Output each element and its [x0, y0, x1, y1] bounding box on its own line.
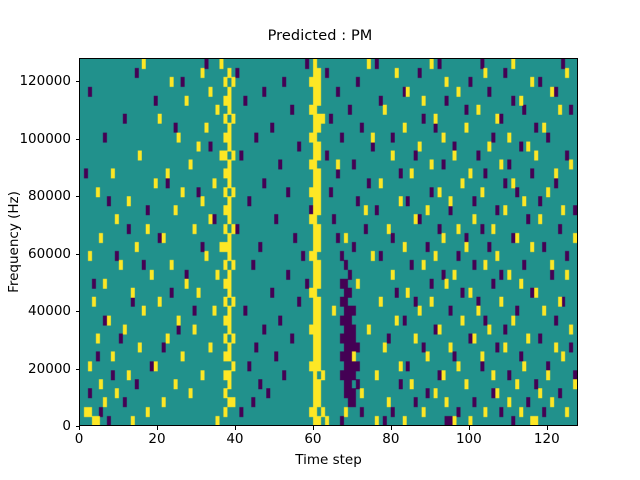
y-tick-mark [76, 426, 80, 427]
y-tick-mark [76, 311, 80, 312]
matplotlib-figure: Predicted : PM 020406080100120 020000400… [0, 0, 640, 480]
x-tick-label: 0 [75, 431, 84, 447]
y-tick-label: 120000 [19, 73, 71, 89]
y-axis-label: Frequency (Hz) [6, 191, 22, 293]
x-tick-mark [235, 426, 236, 430]
x-tick-label: 80 [382, 431, 399, 447]
y-tick-mark [76, 139, 80, 140]
y-tick-label: 20000 [28, 361, 71, 377]
y-tick-label: 60000 [28, 246, 71, 262]
x-tick-label: 40 [226, 431, 243, 447]
y-tick-mark [76, 254, 80, 255]
x-tick-mark [313, 426, 314, 430]
x-tick-mark [157, 426, 158, 430]
x-tick-label: 20 [148, 431, 165, 447]
x-tick-label: 120 [534, 431, 560, 447]
y-tick-label: 40000 [28, 303, 71, 319]
y-tick-mark [76, 369, 80, 370]
x-tick-mark [391, 426, 392, 430]
y-tick-mark [76, 81, 80, 82]
x-tick-mark [547, 426, 548, 430]
y-tick-label: 100000 [19, 131, 71, 147]
x-axis-label: Time step [79, 452, 578, 468]
heatmap-canvas [80, 59, 577, 425]
x-tick-label: 100 [456, 431, 482, 447]
chart-title: Predicted : PM [0, 28, 640, 44]
y-tick-label: 80000 [28, 188, 71, 204]
x-tick-label: 60 [304, 431, 321, 447]
x-tick-mark [79, 426, 80, 430]
y-tick-label: 0 [62, 418, 71, 434]
x-tick-mark [469, 426, 470, 430]
y-tick-mark [76, 196, 80, 197]
heatmap-axes [79, 58, 578, 426]
